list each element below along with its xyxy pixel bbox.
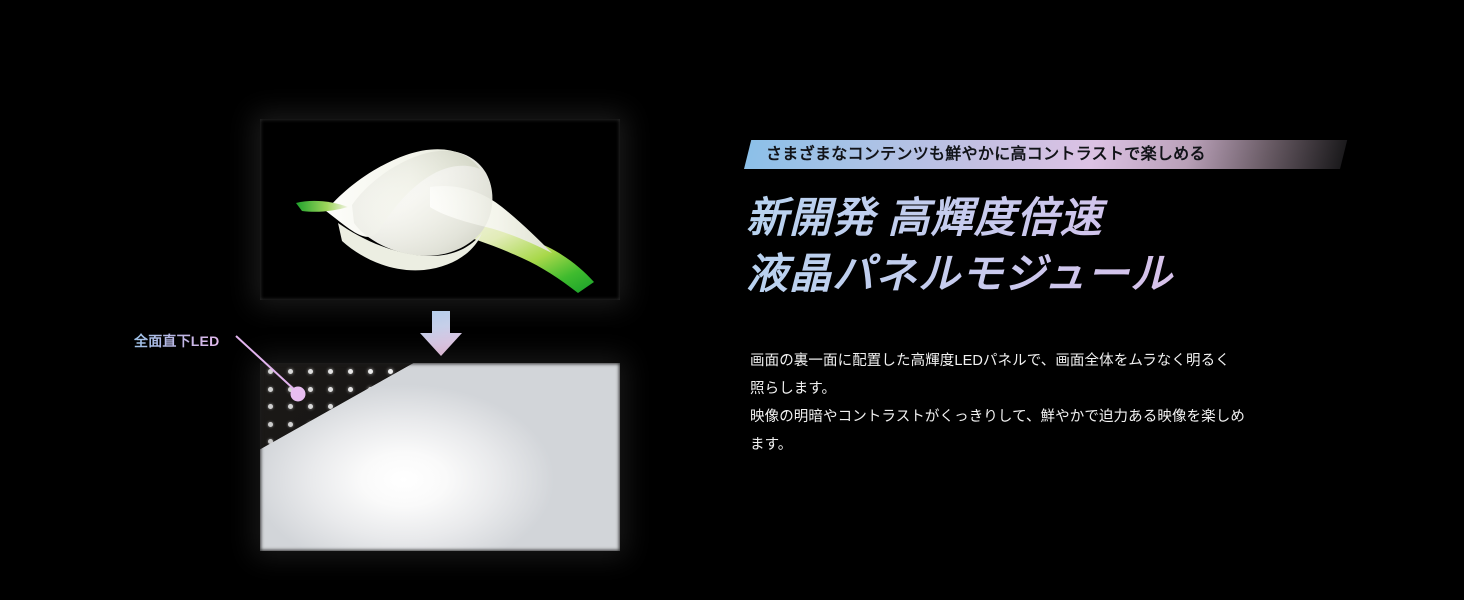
page-title: 新開発 高輝度倍速 液晶パネルモジュール [746,190,1346,303]
led-dot [328,387,333,392]
arrow-down-icon [419,311,463,357]
ribbon-text: さまざまなコンテンツも鮮やかに高コントラストで楽しめる [766,140,1206,169]
body-description: 画面の裏一面に配置した高輝度LEDパネルで、画面全体をムラなく明るく 照らします… [750,348,1338,460]
right-text-column: さまざまなコンテンツも鮮やかに高コントラストで楽しめる 新開発 高輝度倍速 液晶… [744,0,1364,600]
led-dot [328,369,333,374]
calla-lily-photo [260,119,620,300]
flow-arrow [419,311,463,357]
led-dot [348,369,353,374]
eyebrow-ribbon: さまざまなコンテンツも鮮やかに高コントラストで楽しめる [744,140,1340,169]
left-visual-column: 全面直下LED [0,0,700,600]
calla-lily-illustration [260,119,620,300]
led-dot [348,387,353,392]
led-dot [268,422,273,427]
led-dot [288,422,293,427]
led-dot [328,404,333,409]
callout-label-full-array-led: 全面直下LED [134,331,219,351]
page-root: 全面直下LED さまざまなコンテンツも鮮やかに高コントラストで楽しめる 新開発 … [0,0,1464,600]
led-dot [388,369,393,374]
callout-leader-line [228,326,318,406]
led-dot [368,369,373,374]
